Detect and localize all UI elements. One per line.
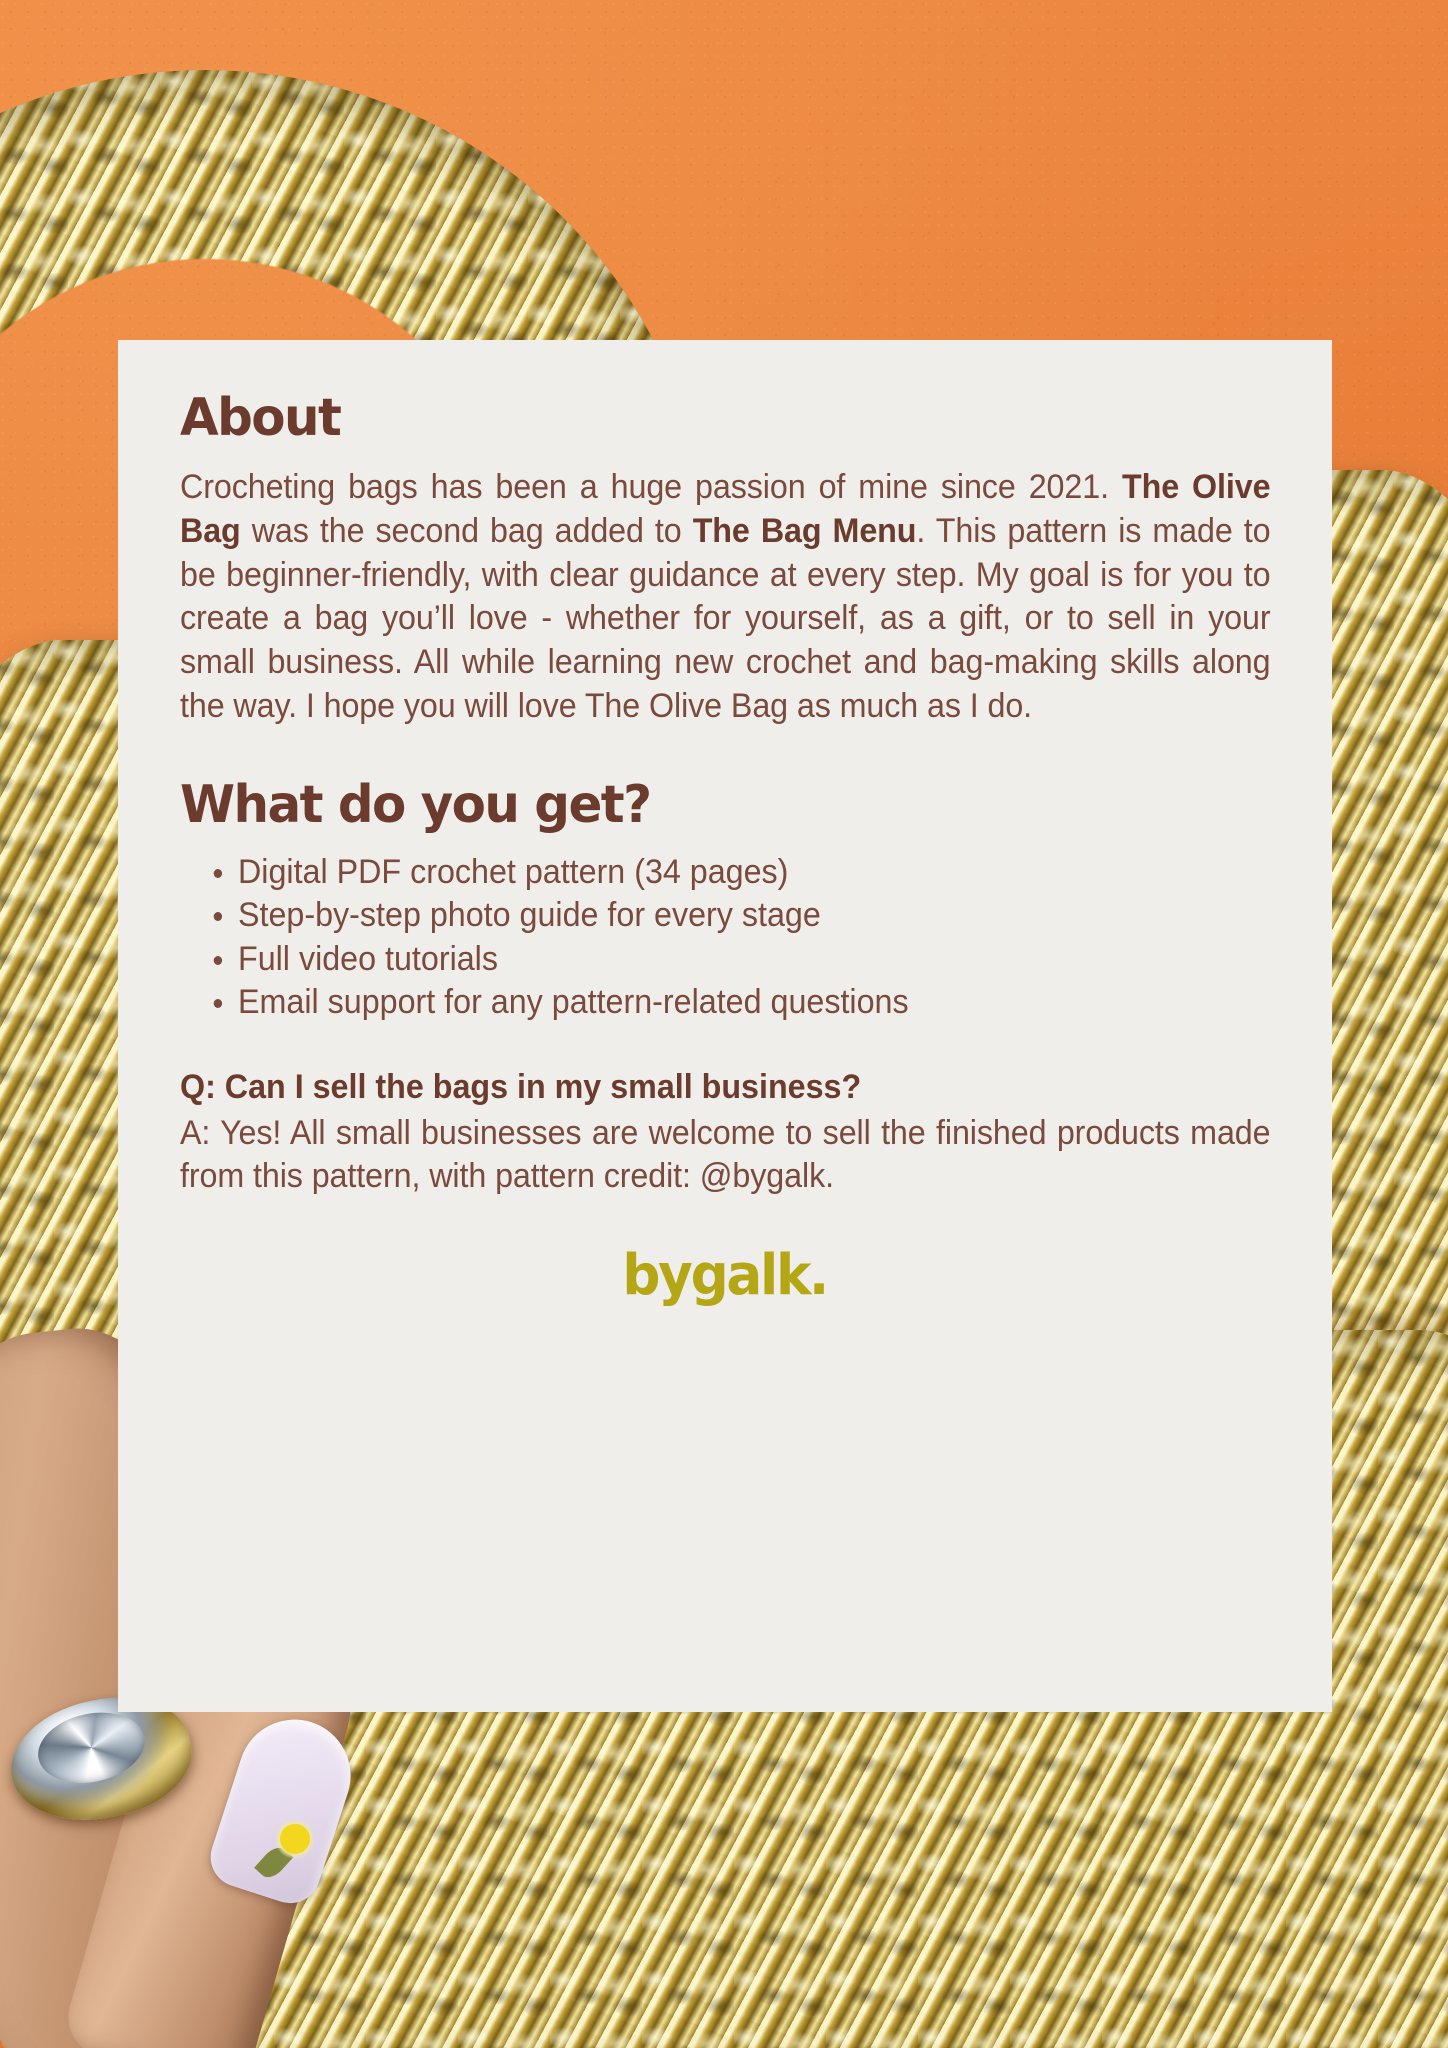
about-paragraph: Crocheting bags has been a huge passion … (180, 466, 1270, 729)
emphasis-text: The Bag Menu (693, 512, 917, 550)
bygalk-logo: bygalk. (623, 1243, 828, 1308)
plain-text: Crocheting bags has been a huge passion … (180, 468, 1122, 506)
list-item: Step-by-step photo guide for every stage (238, 894, 1270, 937)
faq-block: Q: Can I sell the bags in my small busin… (180, 1065, 1270, 1199)
what-you-get-heading: What do you get? (180, 775, 1226, 835)
faq-question: Q: Can I sell the bags in my small busin… (180, 1065, 1270, 1110)
list-item: Digital PDF crochet pattern (34 pages) (238, 851, 1270, 894)
about-heading: About (180, 388, 1226, 448)
faq-answer: A: Yes! All small businesses are welcome… (180, 1112, 1270, 1200)
list-item: Email support for any pattern-related qu… (238, 981, 1270, 1024)
plain-text: was the second bag added to (241, 512, 693, 550)
list-item: Full video tutorials (238, 938, 1270, 981)
brand-logo-wrap: bygalk. (180, 1243, 1270, 1308)
info-card: About Crocheting bags has been a huge pa… (118, 340, 1332, 1712)
perks-list: Digital PDF crochet pattern (34 pages) S… (180, 851, 1270, 1025)
